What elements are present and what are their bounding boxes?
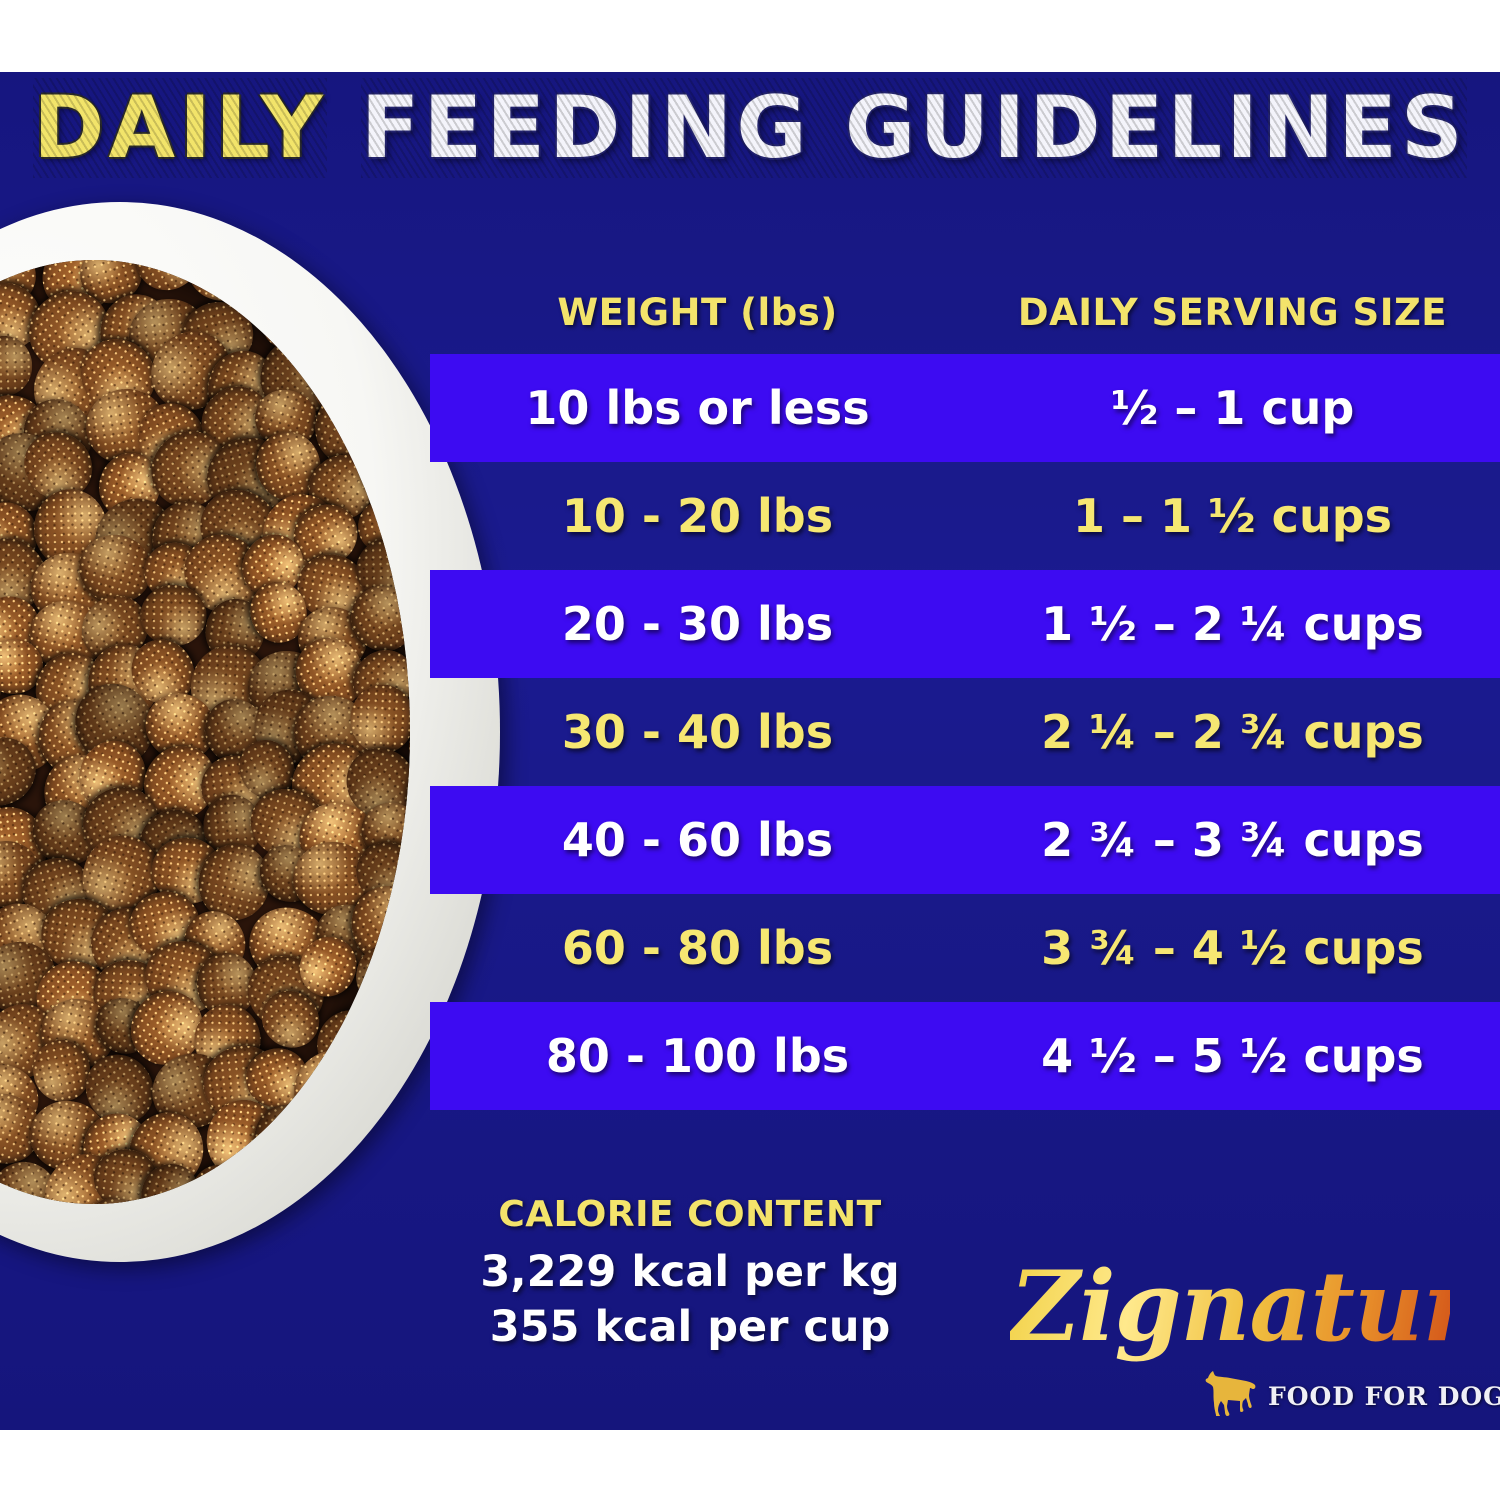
cell-serving: 2 ¼ – 2 ¾ cups xyxy=(965,705,1500,759)
dog-food-bowl-image xyxy=(0,202,500,1262)
column-header-serving: DAILY SERVING SIZE xyxy=(965,291,1500,334)
feeding-guidelines-graphic: DAILY FEEDING GUIDELINES WEIGHT (lbs) DA… xyxy=(0,0,1500,1500)
table-row: 60 - 80 lbs3 ¾ – 4 ½ cups xyxy=(430,894,1500,1002)
table-header-row: WEIGHT (lbs) DAILY SERVING SIZE xyxy=(430,270,1500,354)
cell-weight: 40 - 60 lbs xyxy=(430,813,965,867)
column-header-weight: WEIGHT (lbs) xyxy=(430,291,965,334)
feeding-table: WEIGHT (lbs) DAILY SERVING SIZE 10 lbs o… xyxy=(430,270,1500,1110)
title-word-rest: FEEDING GUIDELINES xyxy=(361,78,1467,178)
calorie-per-kg: 3,229 kcal per kg xyxy=(470,1245,910,1300)
cell-weight: 80 - 100 lbs xyxy=(430,1029,965,1083)
table-row: 80 - 100 lbs4 ½ – 5 ½ cups xyxy=(430,1002,1500,1110)
cell-weight: 60 - 80 lbs xyxy=(430,921,965,975)
table-row: 10 lbs or less½ – 1 cup xyxy=(430,354,1500,462)
calorie-content-block: CALORIE CONTENT 3,229 kcal per kg 355 kc… xyxy=(470,1194,910,1355)
cell-serving: 1 – 1 ½ cups xyxy=(965,489,1500,543)
kibble-piece xyxy=(140,584,207,647)
cell-weight: 10 - 20 lbs xyxy=(430,489,965,543)
cell-serving: 4 ½ – 5 ½ cups xyxy=(965,1029,1500,1083)
table-row: 10 - 20 lbs1 – 1 ½ cups xyxy=(430,462,1500,570)
calorie-content-heading: CALORIE CONTENT xyxy=(470,1194,910,1235)
cell-serving: 2 ¾ – 3 ¾ cups xyxy=(965,813,1500,867)
brand-logo: Zignature® FOOD FOR DOGS xyxy=(1010,1250,1450,1430)
kibble-piece xyxy=(0,335,33,397)
brand-name-text: Zignature xyxy=(1010,1250,1500,1363)
title-word-daily: DAILY xyxy=(33,78,327,178)
cell-serving: 3 ¾ – 4 ½ cups xyxy=(965,921,1500,975)
bowl-interior-kibble xyxy=(0,260,410,1204)
cell-serving: ½ – 1 cup xyxy=(965,381,1500,435)
calorie-per-cup: 355 kcal per cup xyxy=(470,1300,910,1355)
brand-tagline: FOOD FOR DOGS xyxy=(1268,1382,1500,1411)
page-title: DAILY FEEDING GUIDELINES xyxy=(0,78,1500,178)
cell-weight: 10 lbs or less xyxy=(430,381,965,435)
table-row: 30 - 40 lbs2 ¼ – 2 ¾ cups xyxy=(430,678,1500,786)
table-body: 10 lbs or less½ – 1 cup10 - 20 lbs1 – 1 … xyxy=(430,354,1500,1110)
navy-panel: DAILY FEEDING GUIDELINES WEIGHT (lbs) DA… xyxy=(0,72,1500,1430)
table-row: 40 - 60 lbs2 ¾ – 3 ¾ cups xyxy=(430,786,1500,894)
table-row: 20 - 30 lbs1 ½ – 2 ¼ cups xyxy=(430,570,1500,678)
brand-name: Zignature® xyxy=(1010,1250,1450,1363)
cell-serving: 1 ½ – 2 ¼ cups xyxy=(965,597,1500,651)
dog-silhouette-icon xyxy=(1202,1368,1262,1416)
cell-weight: 20 - 30 lbs xyxy=(430,597,965,651)
cell-weight: 30 - 40 lbs xyxy=(430,705,965,759)
